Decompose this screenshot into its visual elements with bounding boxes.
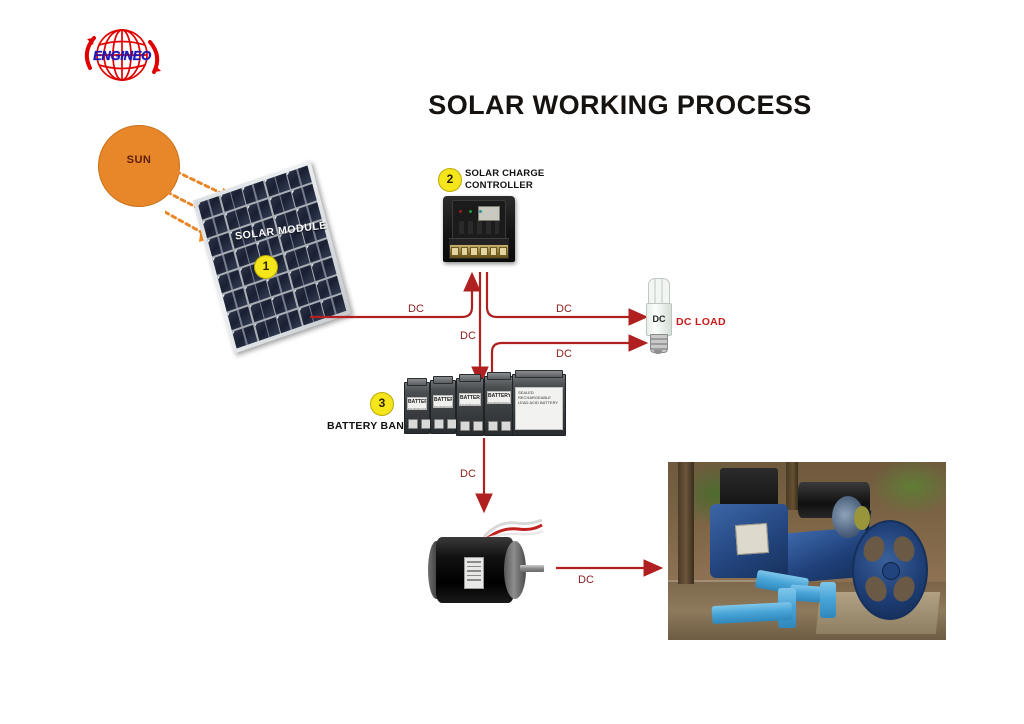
- motor-nameplate: [464, 557, 484, 589]
- dc-label-controller-battery: DC: [460, 330, 476, 342]
- pump-wooden-post: [786, 462, 798, 510]
- water-pump-photo: [668, 462, 946, 640]
- scc-symbol-row: [459, 221, 499, 234]
- dc-motor-graphic: [420, 515, 545, 615]
- page-title: SOLAR WORKING PROCESS: [340, 90, 900, 121]
- motor-shaft: [520, 565, 544, 572]
- lamp-tubes: [648, 278, 670, 305]
- pump-nameplate: [735, 523, 769, 555]
- scc-led-red: [459, 210, 462, 213]
- scc-led-blue: [479, 210, 482, 213]
- solar-charge-controller-label: SOLAR CHARGE CONTROLLER: [465, 168, 575, 191]
- scc-screw: [480, 247, 488, 256]
- scc-lcd-display: [478, 206, 500, 221]
- battery-icons: [408, 419, 431, 429]
- pvc-pipe: [820, 582, 836, 618]
- scc-body: [443, 196, 515, 262]
- battery-terminal-cap: [407, 378, 427, 386]
- lamp-dc-text: DC: [647, 314, 671, 324]
- battery-icons: [488, 421, 511, 431]
- battery-unit: BATTERYMAINTENANCE FREE: [484, 376, 514, 436]
- lamp-body: DC: [646, 303, 672, 336]
- scc-label-line2: CONTROLLER: [465, 180, 575, 192]
- battery-face-label: BATTERYMAINTENANCE FREE: [433, 395, 453, 408]
- battery-bank-graphic: BATTERYMAINTENANCE FREE BATTERYMAINTENAN…: [404, 372, 564, 438]
- scc-screw: [451, 247, 459, 256]
- flywheel-spoke-gap: [860, 533, 888, 564]
- flywheel-spoke-gap: [890, 533, 918, 564]
- solar-module-graphic: SOLAR MODULE: [196, 170, 368, 342]
- scc-screw: [470, 247, 478, 256]
- scc-label-line1: SOLAR CHARGE: [465, 168, 575, 180]
- battery-unit: BATTERYMAINTENANCE FREE: [430, 380, 456, 434]
- badge-1: 1: [254, 255, 278, 279]
- dc-label-battery-load: DC: [556, 348, 572, 360]
- solar-charge-controller-graphic: [443, 196, 515, 262]
- battery-icons: [434, 419, 457, 429]
- battery-terminal-cap: [487, 372, 511, 380]
- battery-bank-label: BATTERY BANK: [327, 420, 412, 432]
- logo-text: ENGINEO: [72, 48, 172, 63]
- battery-face-label: BATTERYMAINTENANCE FREE: [407, 397, 427, 410]
- scc-led-green: [469, 210, 472, 213]
- dc-load-label: DC LOAD: [676, 316, 726, 328]
- scc-screw: [499, 247, 507, 256]
- battery-face-label: BATTERYMAINTENANCE FREE: [459, 393, 481, 406]
- dc-label-battery-motor: DC: [460, 468, 476, 480]
- battery-terminal-cap: [459, 374, 481, 382]
- pump-coupling-hub: [854, 506, 870, 530]
- engineo-logo: ENGINEO: [72, 22, 172, 90]
- pump-wooden-post: [678, 462, 694, 584]
- pump-flywheel: [852, 520, 928, 620]
- badge-2: 2: [438, 168, 462, 192]
- battery-unit: BATTERYMAINTENANCE FREE: [456, 378, 484, 436]
- dc-label-panel-controller: DC: [408, 303, 424, 315]
- battery-unit-side: SEALED RECHARGEABLE LEAD ACID BATTERY: [512, 374, 566, 436]
- dc-load-lamp-graphic: DC: [642, 278, 674, 354]
- battery-unit: BATTERYMAINTENANCE FREE: [404, 382, 430, 434]
- scc-screw: [490, 247, 498, 256]
- battery-terminal-cap: [433, 376, 453, 384]
- battery-side-label: SEALED RECHARGEABLE LEAD ACID BATTERY: [515, 387, 563, 430]
- scc-terminal-block: [449, 244, 509, 259]
- diagram-canvas: ENGINEO SOLAR WORKING PROCESS SUN: [0, 0, 1024, 724]
- scc-faceplate: [452, 200, 506, 240]
- battery-face-label: BATTERYMAINTENANCE FREE: [487, 391, 511, 404]
- battery-terminal-cap: [515, 370, 563, 378]
- scc-screw: [461, 247, 469, 256]
- lamp-tip: [654, 350, 662, 354]
- flywheel-hub: [882, 562, 900, 580]
- dc-label-motor-pump: DC: [578, 574, 594, 586]
- battery-icons: [460, 421, 483, 431]
- badge-3: 3: [370, 392, 394, 416]
- dc-label-controller-load: DC: [556, 303, 572, 315]
